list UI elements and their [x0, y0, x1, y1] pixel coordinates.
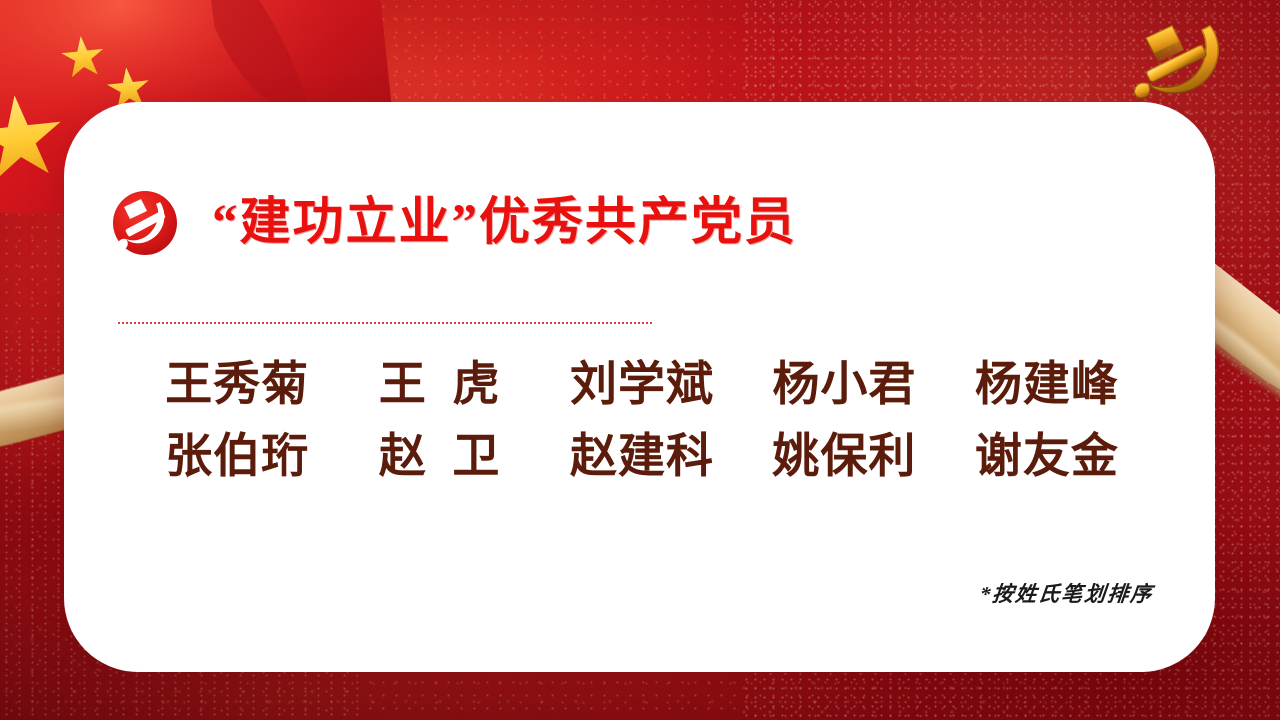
sort-note: *按姓氏笔划排序 — [978, 578, 1155, 608]
content-card: “建功立业”优秀共产党员 王秀菊 王 虎 刘学斌 杨小君 杨建峰 张伯珩 赵 卫… — [64, 102, 1215, 672]
honoree-name: 刘学斌 — [541, 354, 743, 416]
card-header: “建功立业”优秀共产党员 — [112, 190, 797, 256]
honoree-name: 谢友金 — [946, 426, 1148, 488]
honoree-row: 王秀菊 王 虎 刘学斌 杨小君 杨建峰 — [136, 354, 1148, 416]
honoree-name: 赵 卫 — [338, 426, 540, 488]
honoree-name: 张伯珩 — [136, 426, 338, 488]
honoree-name: 杨建峰 — [946, 354, 1148, 416]
hammer-sickle-badge-icon — [112, 190, 178, 256]
honoree-row: 张伯珩 赵 卫 赵建科 姚保利 谢友金 — [136, 426, 1148, 488]
honoree-name: 赵建科 — [541, 426, 743, 488]
honoree-list: 王秀菊 王 虎 刘学斌 杨小君 杨建峰 张伯珩 赵 卫 赵建科 姚保利 谢友金 — [136, 354, 1148, 498]
gold-hammer-sickle-emblem-icon — [1124, 10, 1244, 106]
slide-root: “建功立业”优秀共产党员 王秀菊 王 虎 刘学斌 杨小君 杨建峰 张伯珩 赵 卫… — [0, 0, 1280, 720]
honoree-name: 姚保利 — [743, 426, 945, 488]
honoree-name: 杨小君 — [743, 354, 945, 416]
honoree-name: 王 虎 — [338, 354, 540, 416]
page-title: “建功立业”优秀共产党员 — [212, 198, 797, 249]
honoree-name: 王秀菊 — [136, 354, 338, 416]
dotted-divider — [118, 322, 652, 324]
